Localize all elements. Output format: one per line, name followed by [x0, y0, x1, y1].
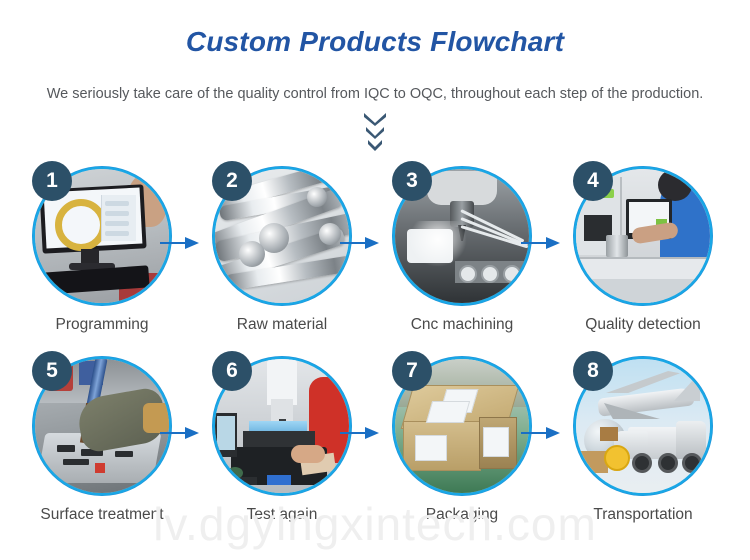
flow-step-8[interactable]: 8 Transportation — [553, 350, 733, 524]
step-number-badge: 3 — [392, 161, 432, 201]
flow-row-2: 5 Surface treatment — [0, 350, 750, 540]
step-number-badge: 2 — [212, 161, 252, 201]
right-arrow-icon — [340, 236, 380, 250]
flowchart-page: Custom Products Flowchart We seriously t… — [0, 0, 750, 560]
step-label: Test again — [192, 506, 372, 524]
step-label: Quality detection — [553, 316, 733, 334]
flow-row-1: 1 Programming — [0, 160, 750, 350]
step-label: Cnc machining — [372, 316, 552, 334]
page-title: Custom Products Flowchart — [0, 26, 750, 58]
step-label: Transportation — [553, 506, 733, 524]
step-number-badge: 7 — [392, 351, 432, 391]
step-label: Packaging — [372, 506, 552, 524]
right-arrow-icon — [160, 236, 200, 250]
step-number-badge: 4 — [573, 161, 613, 201]
page-subtitle: We seriously take care of the quality co… — [0, 86, 750, 102]
right-arrow-icon — [160, 426, 200, 440]
step-number-badge: 1 — [32, 161, 72, 201]
chevron-group — [0, 112, 750, 151]
step-label: Programming — [12, 316, 192, 334]
step-label: Raw material — [192, 316, 372, 334]
right-arrow-icon — [340, 426, 380, 440]
step-number-badge: 6 — [212, 351, 252, 391]
down-chevron-icon — [362, 112, 388, 126]
flow-step-4[interactable]: 4 Quality detection — [553, 160, 733, 334]
step-number-badge: 5 — [32, 351, 72, 391]
right-arrow-icon — [521, 236, 561, 250]
right-arrow-icon — [521, 426, 561, 440]
down-chevron-icon — [364, 126, 386, 139]
step-number-badge: 8 — [573, 351, 613, 391]
step-label: Surface treatment — [12, 506, 192, 524]
down-chevron-icon — [366, 139, 384, 151]
